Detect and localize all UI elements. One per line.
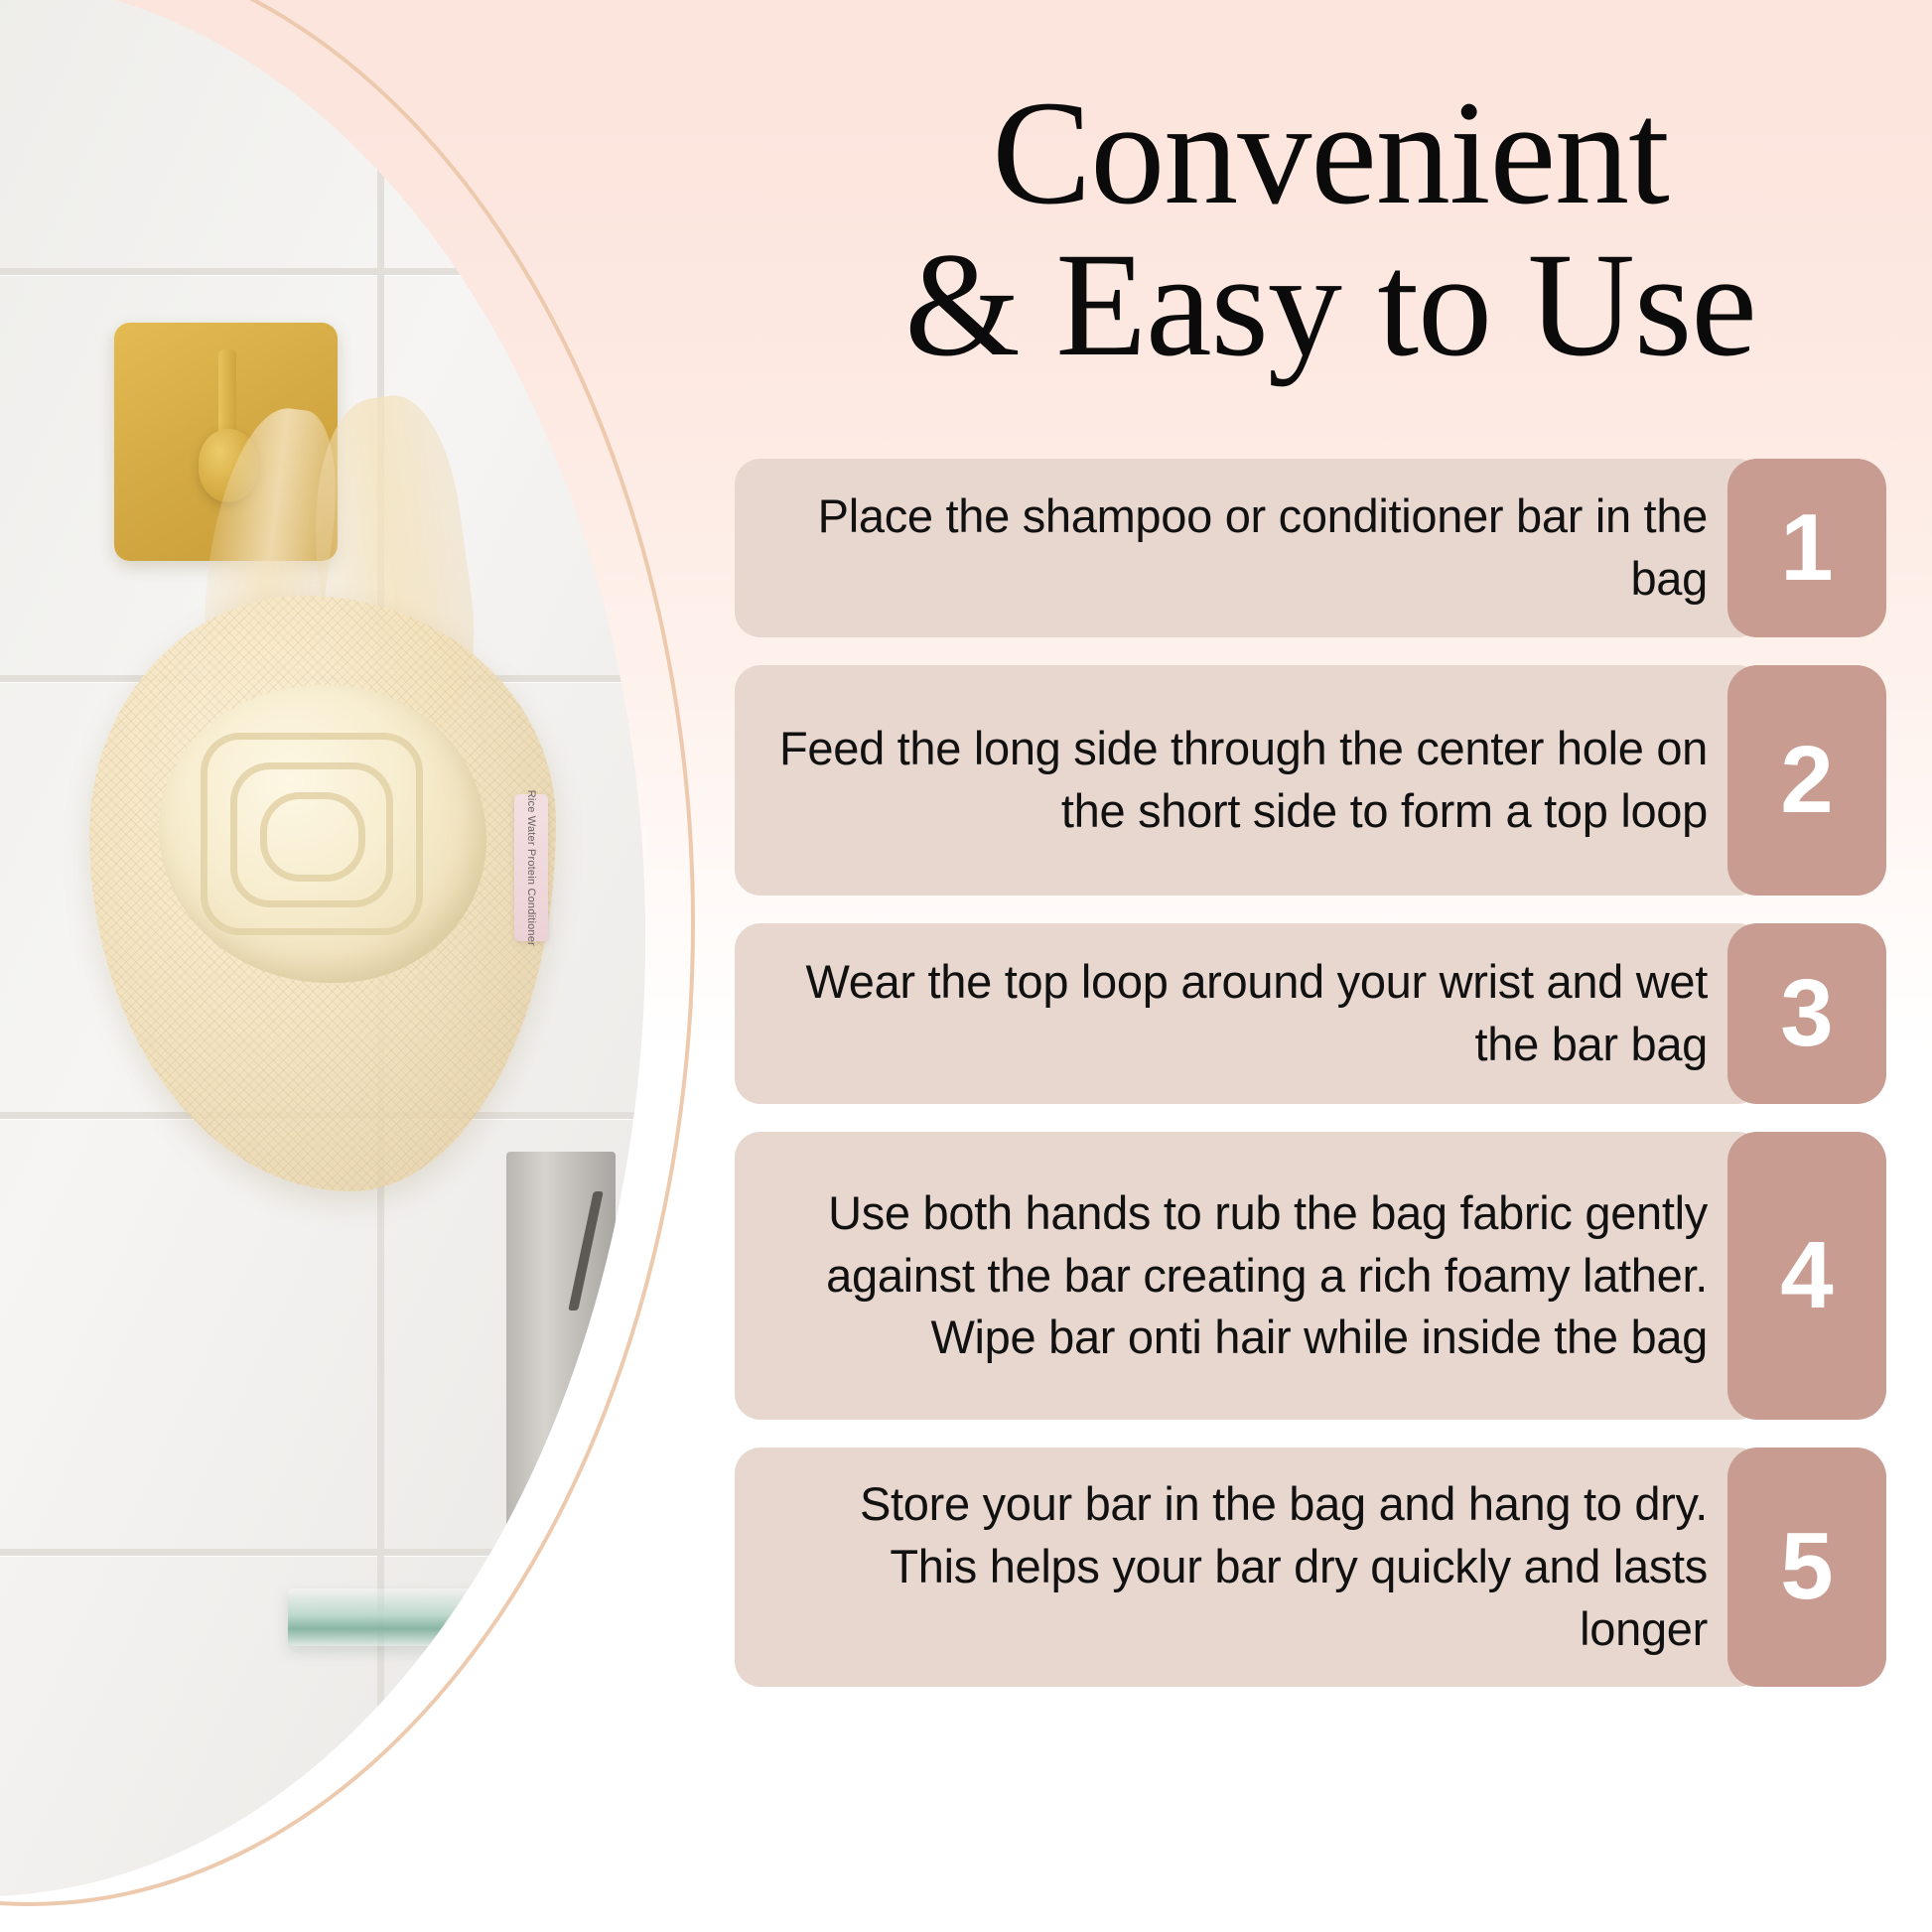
content-column: Convenient & Easy to Use Place the shamp…: [715, 0, 1932, 1932]
soap-ridge: [260, 792, 365, 882]
step-text: Use both hands to rub the bag fabric gen…: [774, 1182, 1708, 1370]
product-photo-circle: Rice Water Protein Conditioner: [0, 0, 645, 1896]
step-body: Store your bar in the bag and hang to dr…: [735, 1448, 1763, 1687]
step-body: Wear the top loop around your wrist and …: [735, 923, 1763, 1104]
step-item: Place the shampoo or conditioner bar in …: [735, 459, 1886, 637]
steps-list: Place the shampoo or conditioner bar in …: [735, 459, 1886, 1715]
tile-grout-line: [0, 268, 645, 275]
step-text: Feed the long side through the center ho…: [774, 718, 1708, 843]
product-label-text: Rice Water Protein Conditioner: [525, 789, 538, 945]
product-photo: Rice Water Protein Conditioner: [0, 0, 645, 1896]
step-text: Place the shampoo or conditioner bar in …: [774, 485, 1708, 611]
glass-shelf: [288, 1588, 645, 1646]
step-number-badge: 2: [1727, 665, 1886, 896]
step-text: Store your bar in the bag and hang to dr…: [774, 1473, 1708, 1661]
step-item: Wear the top loop around your wrist and …: [735, 923, 1886, 1104]
step-text: Wear the top loop around your wrist and …: [774, 951, 1708, 1076]
step-body: Feed the long side through the center ho…: [735, 665, 1763, 896]
step-item: Feed the long side through the center ho…: [735, 665, 1886, 896]
step-number-badge: 1: [1727, 459, 1886, 637]
step-body: Use both hands to rub the bag fabric gen…: [735, 1132, 1763, 1420]
step-body: Place the shampoo or conditioner bar in …: [735, 459, 1763, 637]
step-item: Store your bar in the bag and hang to dr…: [735, 1448, 1886, 1687]
page-title: Convenient & Easy to Use: [755, 77, 1906, 381]
step-number-badge: 3: [1727, 923, 1886, 1104]
step-number-badge: 5: [1727, 1448, 1886, 1687]
page-title-line-1: Convenient: [992, 70, 1669, 235]
step-number-badge: 4: [1727, 1132, 1886, 1420]
step-item: Use both hands to rub the bag fabric gen…: [735, 1132, 1886, 1420]
product-label-tag: Rice Water Protein Conditioner: [514, 794, 548, 941]
page-title-line-2: & Easy to Use: [755, 229, 1906, 381]
infographic-canvas: Rice Water Protein Conditioner Convenien…: [0, 0, 1932, 1932]
mesh-bar-bag: Rice Water Protein Conditioner: [69, 298, 625, 1291]
